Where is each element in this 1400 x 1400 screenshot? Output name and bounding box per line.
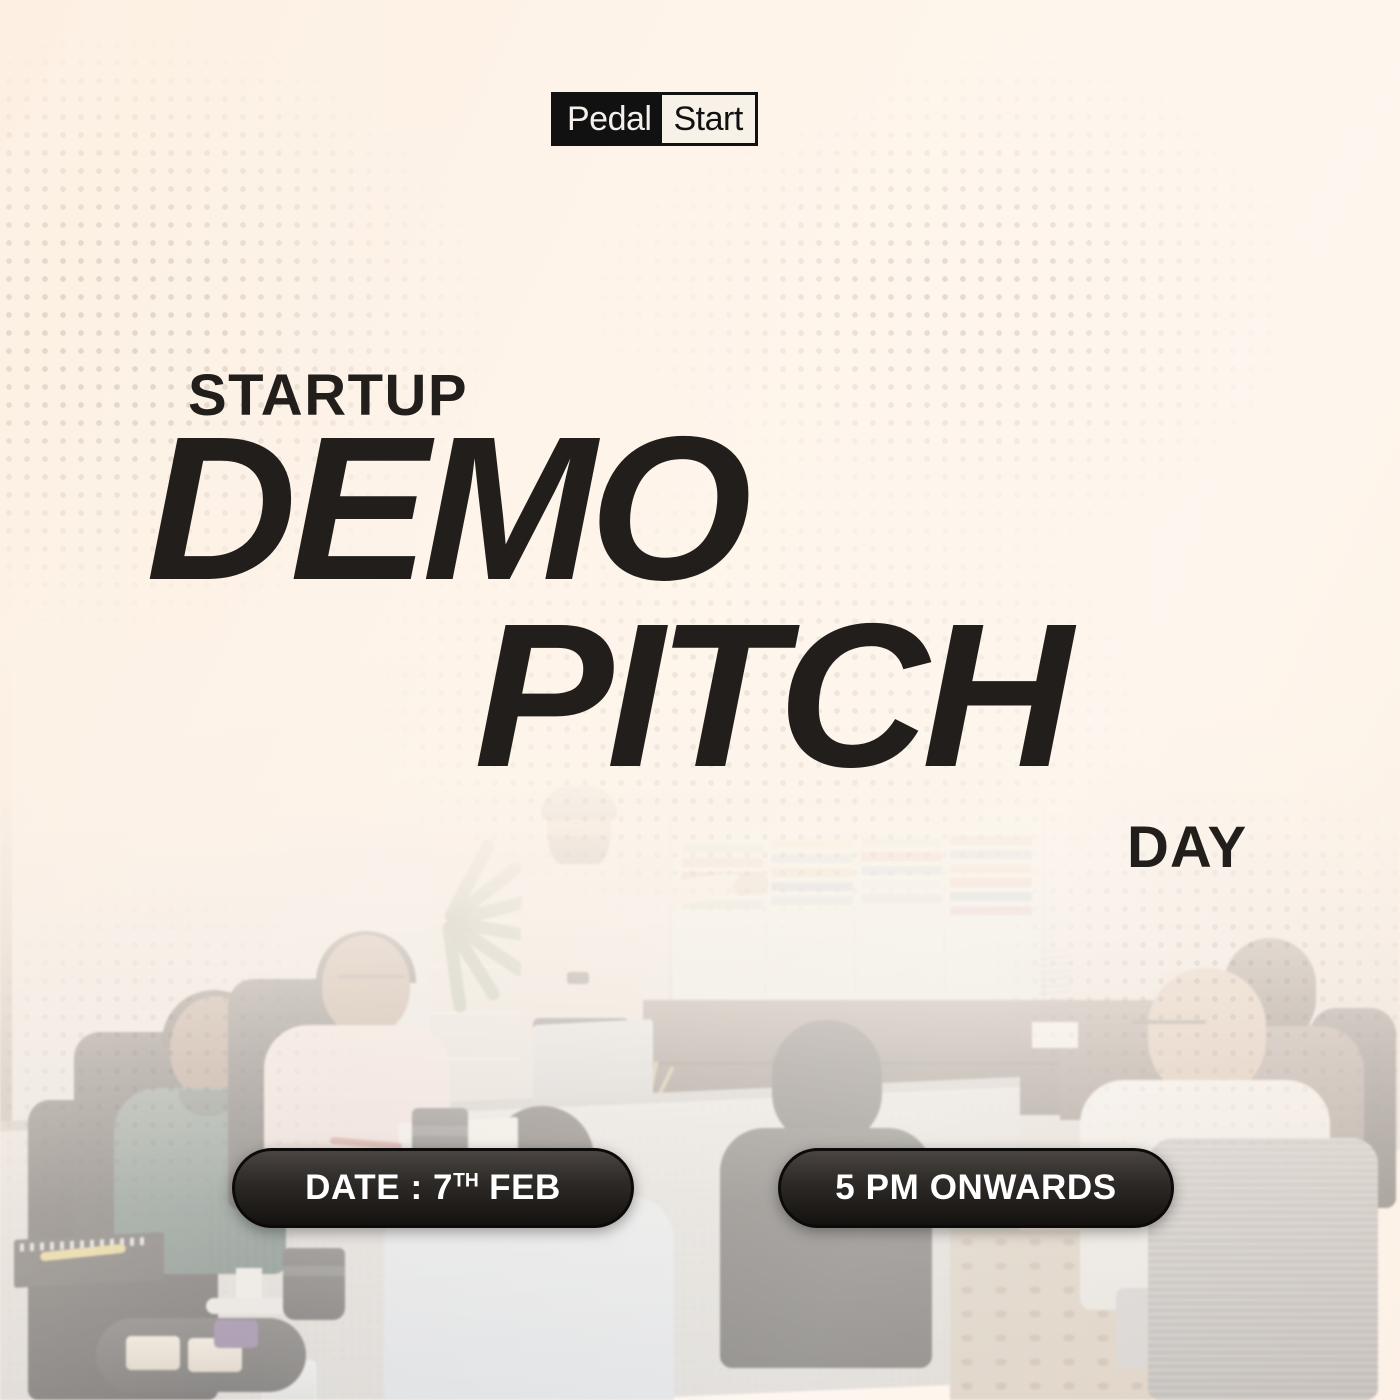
time-badge-label: 5 PM ONWARDS (835, 1168, 1116, 1208)
logo-word-start: Start (662, 95, 754, 143)
date-prefix: DATE : 7 (305, 1168, 453, 1207)
poster-canvas: Pedal Start STARTUP DEMO PITCH DAY DATE … (0, 0, 1400, 1400)
pedalstart-logo[interactable]: Pedal Start (551, 92, 758, 146)
time-badge[interactable]: 5 PM ONWARDS (778, 1148, 1174, 1228)
date-badge[interactable]: DATE : 7TH FEB (232, 1148, 634, 1228)
logo-word-pedal: Pedal (554, 95, 662, 143)
date-suffix: FEB (479, 1168, 561, 1207)
date-badge-label: DATE : 7TH FEB (305, 1168, 561, 1208)
date-ordinal: TH (453, 1170, 479, 1191)
photo-tint-overlay (0, 0, 1400, 1400)
